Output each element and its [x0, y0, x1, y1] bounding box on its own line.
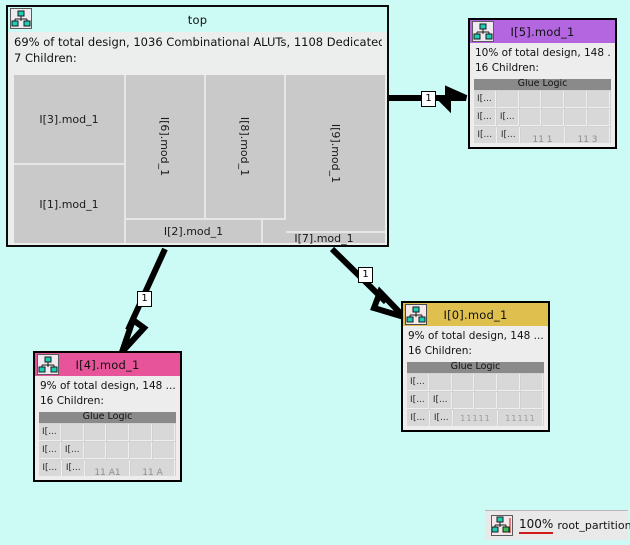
node-i4-info: 9% of total design, 148 ... 16 Children: — [35, 376, 180, 411]
node-i5-title: I[5].mod_1 — [511, 25, 575, 39]
minimap-cell[interactable] — [430, 374, 452, 391]
minimap-cell[interactable]: I[... — [474, 109, 496, 126]
minimap-row: I[... I[... 11111 11111 — [407, 410, 544, 426]
minimap-cell[interactable]: 11111 — [454, 410, 498, 426]
minimap-cell[interactable] — [153, 424, 175, 441]
hierarchy-partition-icon — [491, 515, 513, 536]
minimap-cell[interactable]: I[... — [39, 442, 61, 459]
minimap-cell[interactable]: I[... — [430, 392, 452, 409]
treemap-cell-i1[interactable]: I[1].mod_1 — [14, 165, 126, 243]
node-i4-children-count: 16 Children: — [40, 394, 176, 409]
minimap-row: I[... — [474, 91, 611, 108]
minimap-cell[interactable] — [107, 442, 129, 459]
edge-label-top-i4: 1 — [137, 291, 152, 307]
graph-canvas[interactable]: 1 1 1 top 69% of total design, 1036 Comb… — [0, 0, 630, 545]
treemap-cell-i9[interactable]: I[9].mod_1 — [286, 75, 385, 233]
node-top-stats: 69% of total design, 1036 Combinational … — [14, 34, 382, 50]
minimap-cell[interactable]: I[... — [63, 460, 86, 476]
minimap-cell[interactable] — [520, 91, 542, 108]
glue-logic-label: Glue Logic — [518, 79, 568, 88]
minimap-cell[interactable]: I[... — [407, 410, 430, 426]
node-i0-header: I[0].mod_1 — [403, 303, 548, 326]
glue-logic-label: Glue Logic — [451, 362, 501, 371]
node-top-children-count: 7 Children: — [14, 50, 382, 66]
minimap-cell[interactable]: 11111 — [499, 410, 543, 426]
minimap-row: I[... I[... 11 1 11 3 — [474, 127, 611, 143]
node-i5-info: 10% of total design, 148 ... 16 Children… — [470, 43, 615, 78]
minimap-cell[interactable] — [498, 374, 520, 391]
node-top-info: 69% of total design, 1036 Combinational … — [8, 32, 387, 67]
minimap-cell[interactable] — [475, 374, 497, 391]
minimap-cell[interactable]: 11 3 — [566, 127, 610, 143]
edge-label-top-i0: 1 — [358, 267, 373, 283]
minimap-cell[interactable] — [520, 109, 542, 126]
node-top-header: top — [8, 7, 387, 32]
legend-percent: 100% — [519, 517, 553, 534]
node-i0-info: 9% of total design, 148 ... 16 Children: — [403, 326, 548, 361]
minimap-cell[interactable] — [542, 91, 564, 108]
hierarchy-icon — [10, 8, 32, 29]
glue-logic-bar: Glue Logic — [474, 79, 611, 90]
node-i4-title: I[4].mod_1 — [76, 358, 140, 372]
minimap-cell[interactable] — [497, 91, 519, 108]
minimap-cell[interactable]: I[... — [431, 410, 454, 426]
minimap-cell[interactable] — [498, 392, 520, 409]
node-i5-children-count: 16 Children: — [475, 61, 611, 76]
minimap-cell[interactable] — [588, 91, 610, 108]
glue-logic-label: Glue Logic — [83, 412, 133, 421]
minimap-cell[interactable]: I[... — [474, 127, 497, 143]
node-i4-stats: 9% of total design, 148 ... — [40, 379, 176, 394]
minimap-cell[interactable] — [130, 442, 152, 459]
treemap-cell-label: I[9].mod_1 — [329, 123, 342, 182]
node-top-title: top — [188, 13, 207, 27]
minimap-cell[interactable]: I[... — [407, 374, 429, 391]
node-i5-minimap[interactable]: Glue Logic I[... I[... I[... I[... I[ — [474, 79, 611, 143]
minimap-row: I[... — [39, 424, 176, 441]
node-top-treemap[interactable]: I[3].mod_1 I[6].mod_1 I[8].mod_1 I[9].mo… — [14, 75, 381, 239]
treemap-cell-label: I[6].mod_1 — [159, 117, 172, 176]
node-i5-stats: 10% of total design, 148 ... — [475, 46, 611, 61]
minimap-cell[interactable] — [153, 442, 175, 459]
treemap-cell-i6[interactable]: I[6].mod_1 — [126, 75, 206, 220]
minimap-row: I[... — [407, 374, 544, 391]
node-i0-stats: 9% of total design, 148 ... — [408, 329, 544, 344]
glue-logic-bar: Glue Logic — [39, 412, 176, 423]
minimap-cell[interactable]: I[... — [39, 424, 61, 441]
minimap-row: I[... I[... — [407, 392, 544, 409]
minimap-cell[interactable] — [62, 424, 84, 441]
treemap-cell-i7[interactable]: I[7].mod_1 — [263, 233, 385, 243]
minimap-cell[interactable]: I[... — [474, 91, 496, 108]
node-i4-header: I[4].mod_1 — [35, 353, 180, 376]
minimap-cell[interactable]: I[... — [497, 109, 519, 126]
legend-bar[interactable]: 100% root_partition — [485, 510, 628, 540]
treemap-cell-label: I[3].mod_1 — [39, 113, 98, 126]
hierarchy-icon — [405, 304, 427, 325]
node-i0-minimap[interactable]: Glue Logic I[... I[... I[... I[... I[ — [407, 362, 544, 426]
minimap-cell[interactable]: I[... — [62, 442, 84, 459]
minimap-cell[interactable]: I[... — [39, 460, 62, 476]
minimap-cell[interactable]: 11 A — [131, 460, 175, 476]
node-i0-title: I[0].mod_1 — [444, 308, 508, 322]
minimap-cell[interactable]: I[... — [498, 127, 521, 143]
node-i4[interactable]: I[4].mod_1 9% of total design, 148 ... 1… — [33, 351, 182, 482]
node-i0-children-count: 16 Children: — [408, 344, 544, 359]
minimap-cell[interactable] — [85, 424, 107, 441]
minimap-cell[interactable]: 11 1 — [521, 127, 565, 143]
minimap-cell[interactable] — [542, 109, 564, 126]
treemap-cell-label: I[8].mod_1 — [239, 117, 252, 176]
minimap-cell[interactable] — [85, 442, 107, 459]
node-i5[interactable]: I[5].mod_1 10% of total design, 148 ... … — [468, 18, 617, 149]
edge-label-top-i5: 1 — [421, 91, 436, 107]
treemap-cell-i3[interactable]: I[3].mod_1 — [14, 75, 126, 165]
node-i0[interactable]: I[0].mod_1 9% of total design, 148 ... 1… — [401, 301, 550, 432]
minimap-cell[interactable] — [107, 424, 129, 441]
treemap-cell-i2[interactable]: I[2].mod_1 — [126, 220, 263, 243]
minimap-cell[interactable] — [565, 91, 587, 108]
hierarchy-icon — [472, 21, 494, 42]
minimap-cell[interactable] — [565, 109, 587, 126]
minimap-cell[interactable]: I[... — [407, 392, 429, 409]
treemap-cell-i8[interactable]: I[8].mod_1 — [206, 75, 286, 220]
minimap-cell[interactable] — [130, 424, 152, 441]
minimap-row: I[... I[... — [39, 442, 176, 459]
hierarchy-icon — [37, 354, 59, 375]
minimap-cell[interactable] — [453, 374, 475, 391]
legend-partition-name: root_partition — [557, 519, 630, 532]
glue-logic-bar: Glue Logic — [407, 362, 544, 373]
minimap-row: I[... I[... — [474, 109, 611, 126]
minimap-cell[interactable] — [453, 392, 475, 409]
treemap-cell-label: I[7].mod_1 — [294, 232, 353, 245]
node-top[interactable]: top 69% of total design, 1036 Combinatio… — [6, 5, 389, 247]
node-i5-header: I[5].mod_1 — [470, 20, 615, 43]
treemap-cell-label: I[1].mod_1 — [39, 198, 98, 211]
node-i4-minimap[interactable]: Glue Logic I[... I[... I[... I[... I[ — [39, 412, 176, 476]
minimap-row: I[... I[... 11 A1 11 A — [39, 460, 176, 476]
minimap-cell[interactable] — [521, 374, 543, 391]
minimap-cell[interactable] — [475, 392, 497, 409]
minimap-cell[interactable] — [588, 109, 610, 126]
minimap-cell[interactable]: 11 A1 — [86, 460, 130, 476]
minimap-cell[interactable] — [521, 392, 543, 409]
treemap-cell-label: I[2].mod_1 — [164, 225, 223, 238]
